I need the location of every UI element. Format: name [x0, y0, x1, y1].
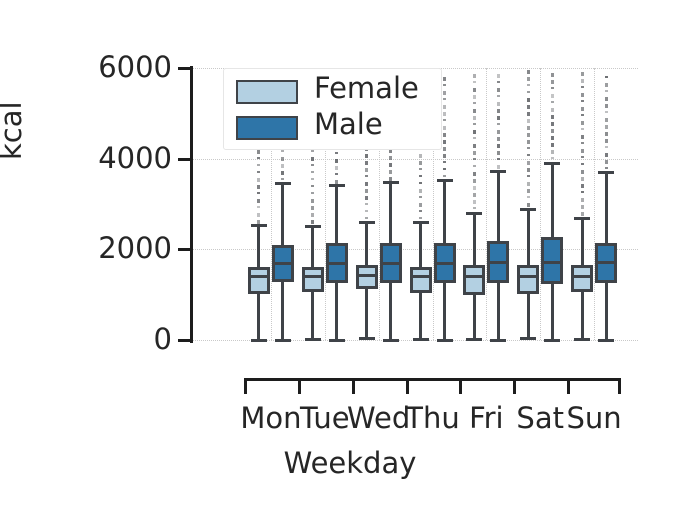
- x-tick-label-thu: Thu: [405, 404, 459, 433]
- outlier-point: [605, 97, 608, 101]
- outlier-point: [605, 125, 608, 129]
- outlier-point: [605, 167, 608, 169]
- y-tick-4000: [178, 158, 190, 161]
- outlier-point: [605, 139, 608, 143]
- outlier-point: [605, 111, 608, 113]
- y-tick-6000: [178, 67, 190, 70]
- cap-low: [598, 339, 614, 342]
- outlier-point: [605, 76, 608, 78]
- cap-high: [598, 171, 614, 174]
- x-tick-edge-1: [618, 381, 621, 394]
- outlier-point: [605, 83, 608, 87]
- outlier-point: [605, 146, 608, 148]
- legend-label-male: Male: [314, 110, 383, 139]
- legend-label-female: Female: [314, 74, 419, 103]
- outlier-point: [605, 118, 608, 122]
- outlier-point: [605, 104, 608, 108]
- x-tick-label-tue: Tue: [300, 404, 350, 433]
- x-tick-1: [298, 381, 301, 394]
- outlier-point: [605, 153, 608, 157]
- x-tick-5: [513, 381, 516, 394]
- outlier-point: [605, 90, 608, 92]
- outlier-point: [605, 160, 608, 164]
- x-tick-2: [352, 381, 355, 394]
- y-tick-label-2000: 2000: [0, 234, 172, 263]
- outlier-point: [605, 132, 608, 136]
- legend: Female Male: [223, 68, 442, 150]
- x-tick-label-sat: Sat: [516, 404, 564, 433]
- x-tick-4: [459, 381, 462, 394]
- legend-swatch-male: [236, 116, 298, 140]
- x-tick-edge-0: [244, 381, 247, 394]
- boxplot-figure: 0200040006000 kcal MonTueWedThuFriSatSun…: [0, 0, 700, 526]
- y-tick-2000: [178, 248, 190, 251]
- x-tick-3: [406, 381, 409, 394]
- y-axis-spine: [190, 66, 193, 343]
- legend-swatch-female: [236, 80, 298, 104]
- x-tick-label-fri: Fri: [469, 404, 504, 433]
- x-tick-6: [567, 381, 570, 394]
- y-tick-label-6000: 6000: [0, 53, 172, 82]
- x-tick-label-mon: Mon: [240, 404, 301, 433]
- x-tick-label-wed: Wed: [347, 404, 410, 433]
- median-line: [595, 261, 617, 264]
- y-axis-label: kcal: [0, 101, 28, 160]
- y-tick-0: [178, 339, 190, 342]
- x-tick-label-sun: Sun: [566, 404, 621, 433]
- x-axis-label: Weekday: [0, 446, 700, 480]
- y-tick-label-0: 0: [0, 325, 172, 354]
